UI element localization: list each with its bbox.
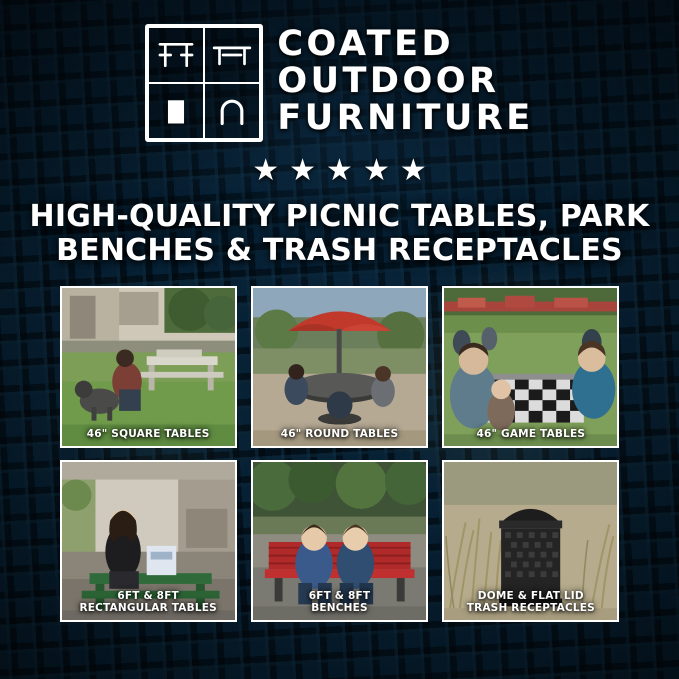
brand-wordmark: COATED OUTDOOR FURNITURE: [277, 27, 533, 138]
product-caption-line-1: 6FT & 8FT: [65, 591, 232, 603]
product-photo-game-tables: [444, 288, 617, 446]
star-icon: ★: [252, 156, 279, 186]
product-caption: 46" ROUND TABLES: [253, 425, 426, 447]
star-icon: ★: [289, 156, 316, 186]
logo-quadrant-bench-icon: [204, 27, 260, 83]
logo-mark-icon: [145, 24, 263, 142]
poster-content: COATED OUTDOOR FURNITURE ★ ★ ★ ★ ★ HIGH-…: [0, 0, 679, 679]
product-caption-line-1: 46" SQUARE TABLES: [65, 429, 232, 441]
headline: HIGH-QUALITY PICNIC TABLES, PARK BENCHES…: [30, 200, 650, 268]
product-photo-round-tables: [253, 288, 426, 446]
product-caption-line-2: RECTANGULAR TABLES: [65, 603, 232, 615]
product-caption-line-1: DOME & FLAT LID: [447, 591, 614, 603]
product-photo-square-tables: [62, 288, 235, 446]
star-icon: ★: [363, 156, 390, 186]
product-tile-square-tables[interactable]: 46" SQUARE TABLES: [60, 286, 237, 448]
product-caption: 46" GAME TABLES: [444, 425, 617, 447]
product-caption: 46" SQUARE TABLES: [62, 425, 235, 447]
product-caption-line-1: 46" ROUND TABLES: [256, 429, 423, 441]
product-caption-line-1: 6FT & 8FT: [256, 591, 423, 603]
rating-stars: ★ ★ ★ ★ ★: [252, 156, 427, 186]
brand-logo: COATED OUTDOOR FURNITURE: [145, 24, 533, 142]
brand-word-2: OUTDOOR: [277, 64, 533, 100]
star-icon: ★: [326, 156, 353, 186]
brand-word-3: FURNITURE: [277, 101, 533, 137]
product-caption: DOME & FLAT LID TRASH RECEPTACLES: [444, 587, 617, 621]
poster: COATED OUTDOOR FURNITURE ★ ★ ★ ★ ★ HIGH-…: [0, 0, 679, 679]
product-caption: 6FT & 8FT RECTANGULAR TABLES: [62, 587, 235, 621]
logo-quadrant-picnic-table-icon: [148, 27, 204, 83]
product-tile-benches[interactable]: 6FT & 8FT BENCHES: [251, 460, 428, 622]
headline-line-1: HIGH-QUALITY PICNIC TABLES, PARK: [30, 200, 650, 234]
product-grid: 46" SQUARE TABLES: [60, 286, 620, 622]
product-tile-trash-receptacles[interactable]: DOME & FLAT LID TRASH RECEPTACLES: [442, 460, 619, 622]
product-caption: 6FT & 8FT BENCHES: [253, 587, 426, 621]
product-tile-rectangular-tables[interactable]: 6FT & 8FT RECTANGULAR TABLES: [60, 460, 237, 622]
star-icon: ★: [400, 156, 427, 186]
product-tile-round-tables[interactable]: 46" ROUND TABLES: [251, 286, 428, 448]
headline-line-2: BENCHES & TRASH RECEPTACLES: [30, 234, 650, 268]
product-tile-game-tables[interactable]: 46" GAME TABLES: [442, 286, 619, 448]
logo-quadrant-dome-lid-icon: [204, 83, 260, 139]
product-caption-line-2: BENCHES: [256, 603, 423, 615]
brand-word-1: COATED: [277, 27, 533, 63]
product-caption-line-2: TRASH RECEPTACLES: [447, 603, 614, 615]
product-caption-line-1: 46" GAME TABLES: [447, 429, 614, 441]
logo-quadrant-trash-can-icon: [148, 83, 204, 139]
